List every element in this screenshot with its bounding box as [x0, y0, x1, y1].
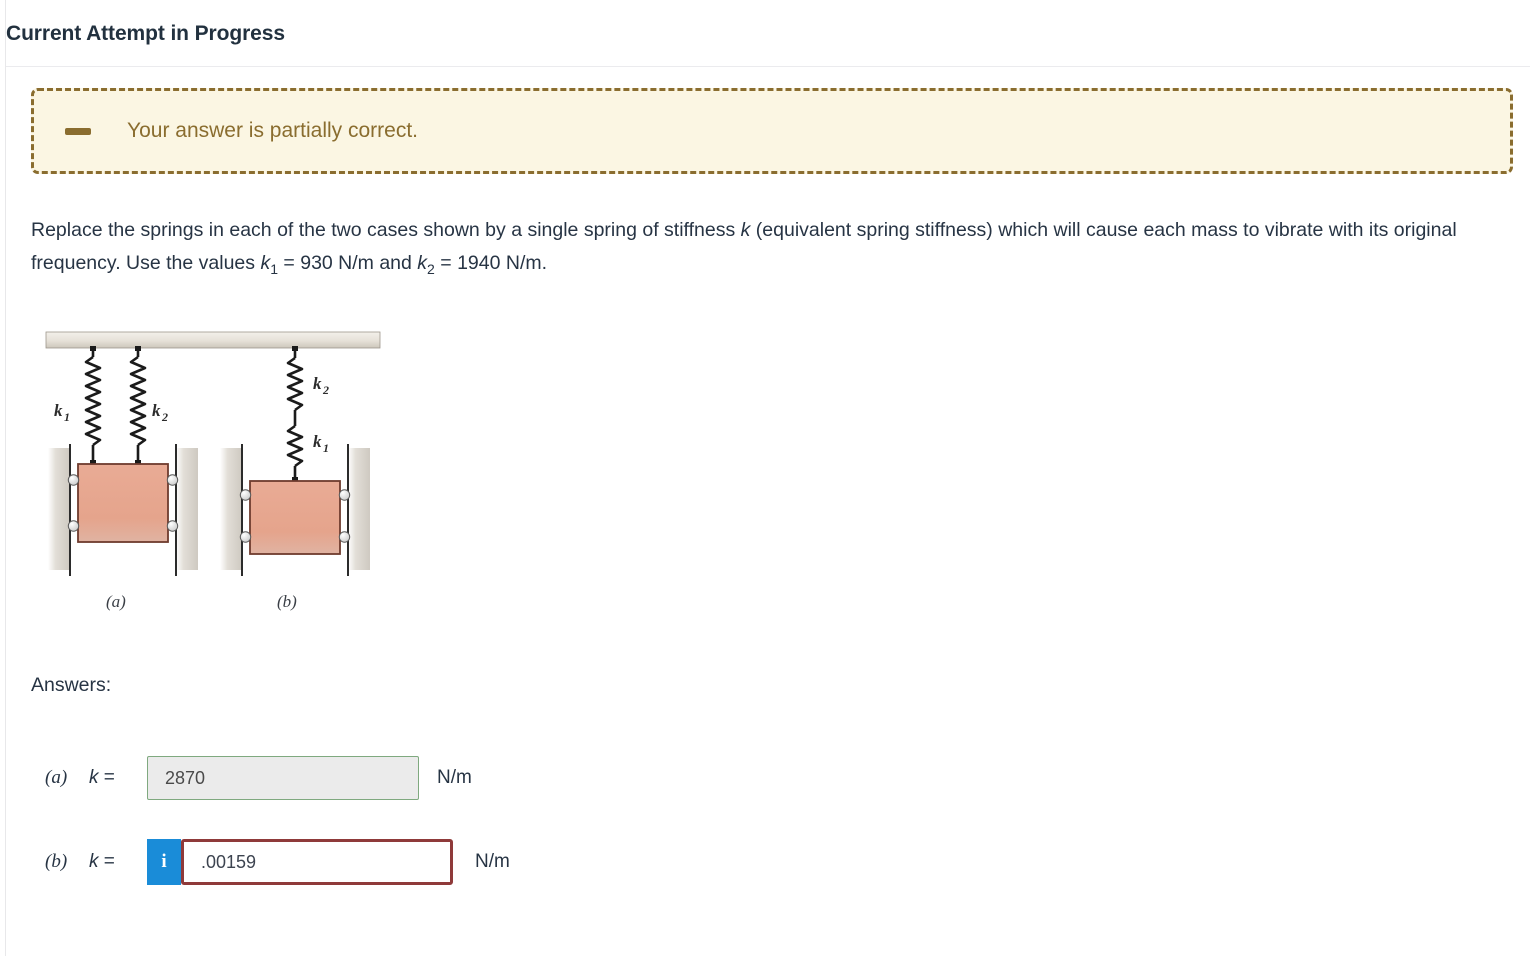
page-title: Current Attempt in Progress	[6, 22, 285, 46]
status-banner-partially-correct: Your answer is partially correct.	[31, 88, 1513, 174]
answer-row-b-k-label: k =	[89, 851, 147, 873]
figure-caption-a: (a)	[106, 592, 126, 612]
answer-row-b-k-symbol: k	[89, 851, 99, 872]
case-b-spring-k1	[288, 420, 302, 482]
spring-mass-figure-svg: k 1 k 2	[42, 330, 382, 620]
case-a-spring-k2	[131, 346, 145, 465]
case-b-label-k2: k	[313, 374, 322, 393]
case-b-left-wall	[220, 444, 242, 576]
answer-row-a-k-label: k =	[89, 767, 147, 789]
figure-caption-b: (b)	[277, 592, 297, 612]
answer-row-a-equals: =	[99, 767, 115, 788]
case-b-label-k2-sub: 2	[322, 383, 329, 397]
case-a-label-k1-sub: 1	[64, 410, 70, 424]
case-a-left-wall	[48, 444, 70, 576]
prompt-var-k: k	[741, 219, 751, 241]
case-b-right-wall	[348, 444, 370, 576]
answer-field-group-b: i .00159	[147, 839, 453, 885]
spring-mass-diagram: k 1 k 2	[42, 330, 382, 620]
prompt-k1-value: = 930 N/m and	[278, 252, 417, 274]
answer-row-b: (b) k = i .00159 N/m	[45, 840, 510, 884]
answer-row-b-tag: (b)	[45, 851, 89, 873]
answer-row-a: (a) k = 2870 N/m	[45, 756, 472, 800]
answer-row-a-tag: (a)	[45, 767, 89, 789]
case-a-label-k2: k	[152, 401, 161, 420]
case-b-label-k1: k	[313, 432, 322, 451]
case-a-mass-block	[78, 464, 168, 542]
case-a-spring-k1	[86, 346, 100, 465]
answers-heading: Answers:	[31, 674, 111, 697]
prompt-segment-1: Replace the springs in each of the two c…	[31, 219, 741, 241]
case-a-right-wall	[176, 444, 198, 576]
info-icon-button[interactable]: i	[147, 839, 181, 885]
question-prompt: Replace the springs in each of the two c…	[31, 214, 1501, 286]
prompt-var-k2: k	[417, 252, 427, 274]
answer-input-b[interactable]: .00159	[181, 839, 453, 885]
answer-unit-a: N/m	[437, 767, 472, 789]
minus-dash-icon	[65, 128, 91, 135]
prompt-var-k2-sub: 2	[427, 261, 435, 277]
answer-unit-b: N/m	[475, 851, 510, 873]
answer-row-b-equals: =	[99, 851, 115, 872]
case-b-label-k1-sub: 1	[323, 441, 329, 455]
case-a-label-k2-sub: 2	[161, 410, 168, 424]
prompt-k2-value: = 1940 N/m.	[435, 252, 547, 274]
case-b-mass-block	[250, 481, 340, 554]
prompt-var-k1-sub: 1	[270, 261, 278, 277]
assessment-page: Current Attempt in Progress Your answer …	[0, 0, 1530, 956]
header-divider	[6, 66, 1530, 67]
answer-input-a[interactable]: 2870	[147, 756, 419, 800]
case-a-label-k1: k	[54, 401, 63, 420]
status-banner-message: Your answer is partially correct.	[127, 119, 418, 143]
prompt-var-k1: k	[260, 252, 270, 274]
answer-row-a-k-symbol: k	[89, 767, 99, 788]
ceiling-beam	[46, 332, 380, 348]
case-b-spring-k2	[288, 346, 302, 420]
